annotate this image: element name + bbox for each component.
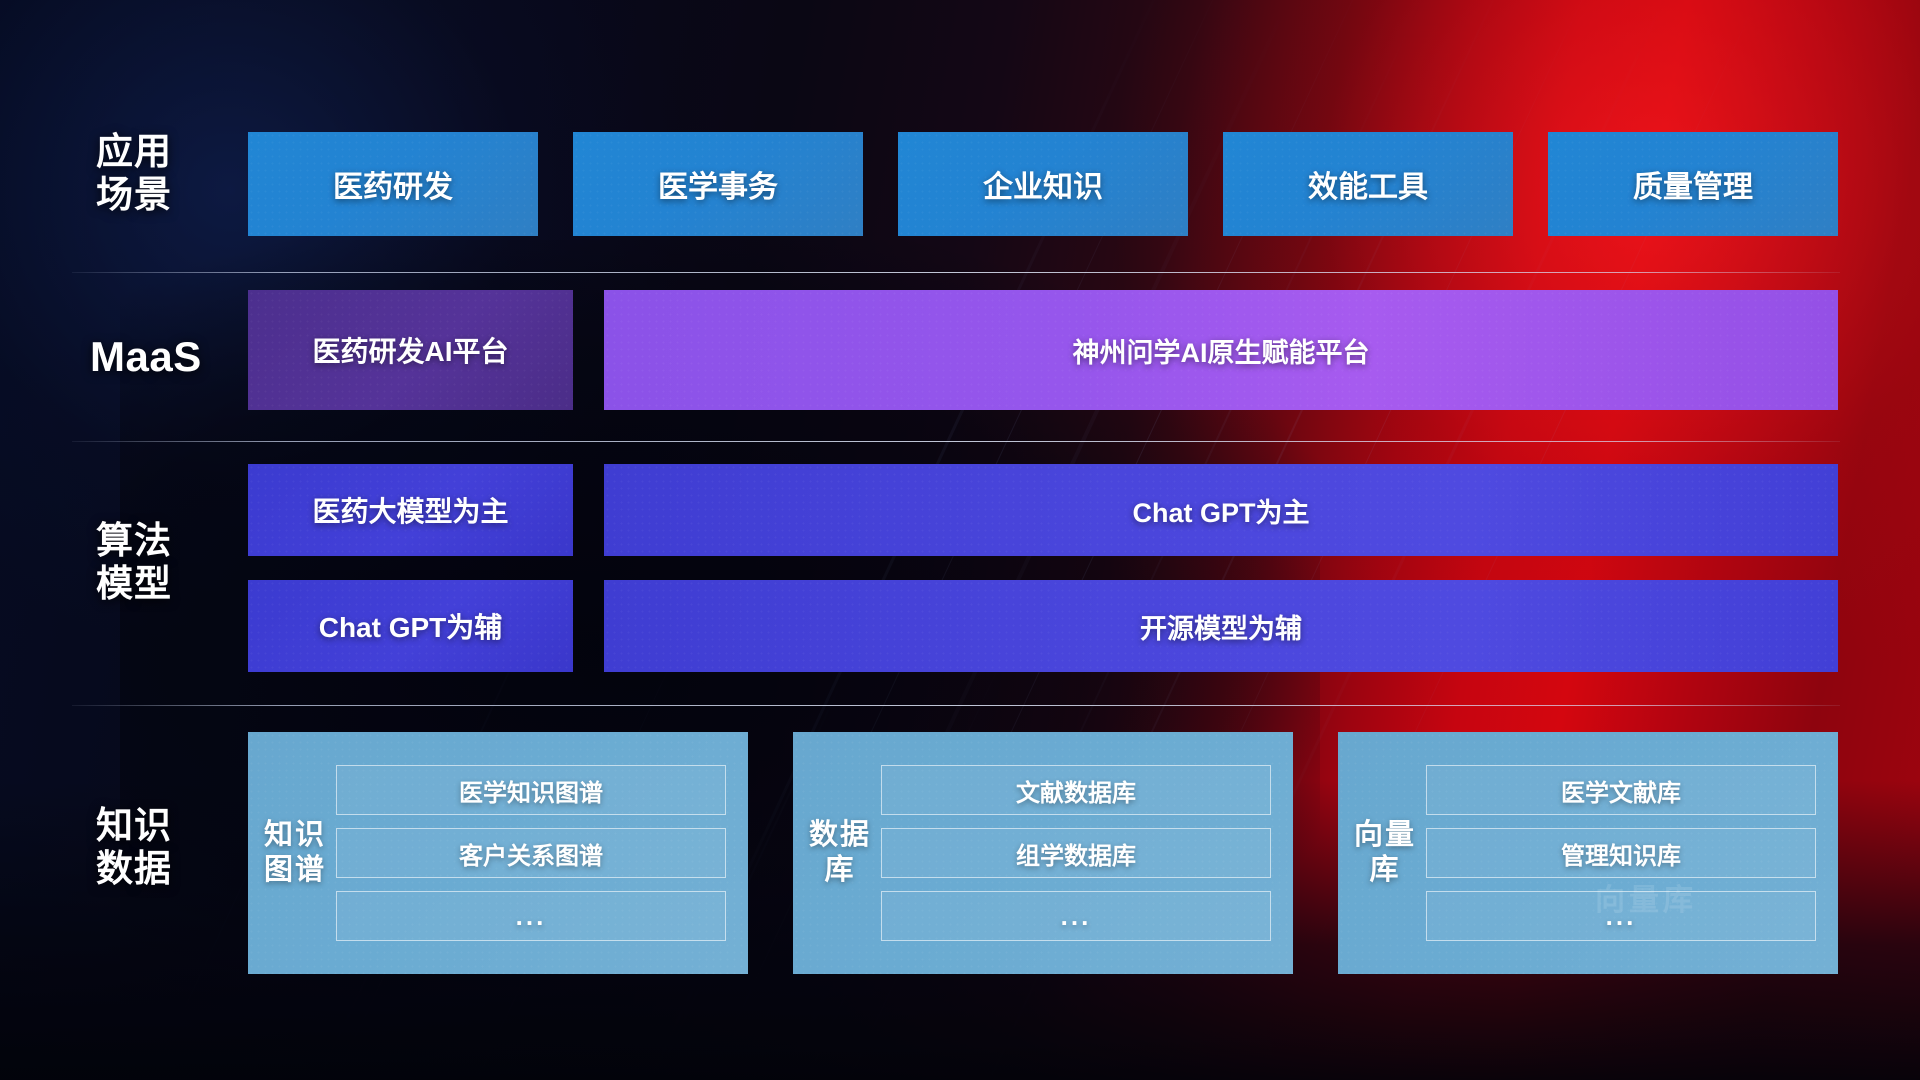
knowledge-item-database-more[interactable]: ... [881, 891, 1271, 941]
app-box-quality-management[interactable]: 质量管理 [1548, 132, 1838, 236]
row-label-maas: MaaS [90, 333, 270, 382]
algo-box-opensource-secondary[interactable]: 开源模型为辅 [604, 580, 1838, 672]
knowledge-group-vector[interactable]: 向量库 医学文献库 管理知识库 ... [1338, 732, 1838, 974]
slide-canvas: 应用 场景 医药研发 医学事务 企业知识 效能工具 质量管理 MaaS 医药研发… [0, 0, 1920, 1080]
row-label-algorithm: 算法 模型 [96, 520, 226, 606]
divider-application-maas [72, 272, 1840, 273]
divider-maas-algorithm [72, 441, 1840, 442]
divider-algorithm-knowledge [72, 705, 1840, 706]
knowledge-item-management-knowledge[interactable]: 管理知识库 [1426, 828, 1816, 878]
knowledge-group-graph[interactable]: 知识图谱 医学知识图谱 客户关系图谱 ... [248, 732, 748, 974]
algo-box-chatgpt-secondary[interactable]: Chat GPT为辅 [248, 580, 573, 672]
knowledge-item-customer-graph[interactable]: 客户关系图谱 [336, 828, 726, 878]
app-box-efficiency-tools[interactable]: 效能工具 [1223, 132, 1513, 236]
knowledge-group-vector-items: 医学文献库 管理知识库 ... [1426, 765, 1816, 941]
app-box-enterprise-knowledge[interactable]: 企业知识 [898, 132, 1188, 236]
knowledge-item-literature-db[interactable]: 文献数据库 [881, 765, 1271, 815]
app-box-medicine-rd[interactable]: 医药研发 [248, 132, 538, 236]
knowledge-item-medical-graph[interactable]: 医学知识图谱 [336, 765, 726, 815]
knowledge-group-vector-title: 向量库 [1354, 818, 1416, 889]
row-label-knowledge: 知识 数据 [96, 805, 226, 891]
knowledge-group-database[interactable]: 数据库 文献数据库 组学数据库 ... [793, 732, 1293, 974]
row-label-application: 应用 场景 [96, 131, 226, 217]
knowledge-group-graph-items: 医学知识图谱 客户关系图谱 ... [336, 765, 726, 941]
algo-box-medicine-llm-primary[interactable]: 医药大模型为主 [248, 464, 573, 556]
maas-box-medicine-ai-platform[interactable]: 医药研发AI平台 [248, 290, 573, 410]
diagram-content: 应用 场景 医药研发 医学事务 企业知识 效能工具 质量管理 MaaS 医药研发… [0, 0, 1920, 1080]
knowledge-group-database-items: 文献数据库 组学数据库 ... [881, 765, 1271, 941]
knowledge-group-database-title: 数据库 [809, 818, 871, 889]
knowledge-item-omics-db[interactable]: 组学数据库 [881, 828, 1271, 878]
knowledge-item-graph-more[interactable]: ... [336, 891, 726, 941]
maas-box-shenzhou-wenxue-platform[interactable]: 神州问学AI原生赋能平台 [604, 290, 1838, 410]
knowledge-item-vector-more[interactable]: ... [1426, 891, 1816, 941]
knowledge-item-medical-literature[interactable]: 医学文献库 [1426, 765, 1816, 815]
app-box-medical-affairs[interactable]: 医学事务 [573, 132, 863, 236]
knowledge-group-graph-title: 知识图谱 [264, 818, 326, 889]
algo-box-chatgpt-primary[interactable]: Chat GPT为主 [604, 464, 1838, 556]
